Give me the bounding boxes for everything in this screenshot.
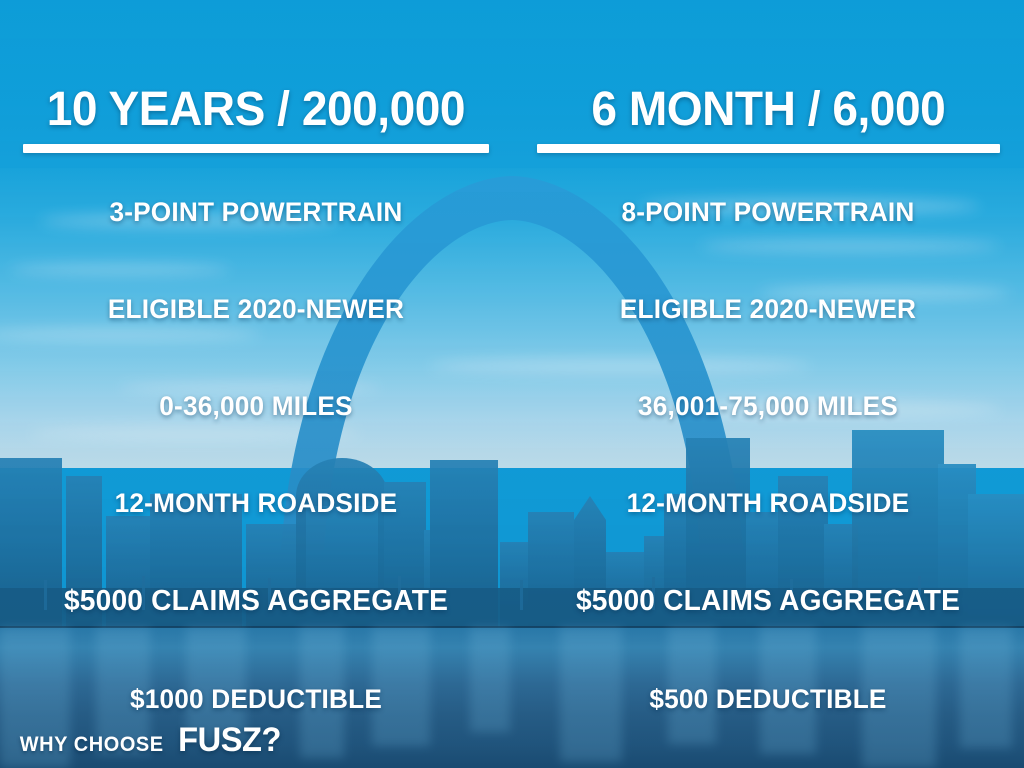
- feature-item: 36,001-75,000 MILES: [520, 391, 1017, 422]
- plans-comparison: 10 YEARS / 200,000 3-POINT POWERTRAIN EL…: [0, 0, 1024, 768]
- footer-branding: WHY CHOOSE FUSZ?: [16, 721, 284, 760]
- feature-item: 12-MONTH ROADSIDE: [520, 488, 1017, 519]
- feature-item: $1000 DEDUCTIBLE: [8, 684, 505, 715]
- feature-item: 0-36,000 MILES: [8, 391, 505, 422]
- footer-lead-text: WHY CHOOSE: [20, 733, 164, 757]
- feature-item: ELIGIBLE 2020-NEWER: [520, 294, 1017, 325]
- feature-item: 3-POINT POWERTRAIN: [8, 197, 505, 228]
- plan-features-6-month: 8-POINT POWERTRAIN ELIGIBLE 2020-NEWER 3…: [512, 153, 1024, 715]
- plan-title-underline: [537, 144, 1000, 153]
- plan-features-10-year: 3-POINT POWERTRAIN ELIGIBLE 2020-NEWER 0…: [0, 153, 512, 715]
- feature-item: ELIGIBLE 2020-NEWER: [8, 294, 505, 325]
- feature-item: $5000 CLAIMS AGGREGATE: [520, 585, 1017, 618]
- plan-column-10-year: 10 YEARS / 200,000 3-POINT POWERTRAIN EL…: [0, 0, 512, 768]
- feature-item: 8-POINT POWERTRAIN: [520, 197, 1017, 228]
- plan-column-6-month: 6 MONTH / 6,000 8-POINT POWERTRAIN ELIGI…: [512, 0, 1024, 768]
- plan-title-6-month: 6 MONTH / 6,000: [591, 82, 945, 137]
- feature-item: $5000 CLAIMS AGGREGATE: [8, 585, 505, 618]
- warranty-comparison-slide: 10 YEARS / 200,000 3-POINT POWERTRAIN EL…: [0, 0, 1024, 768]
- plan-title-10-year: 10 YEARS / 200,000: [47, 82, 465, 137]
- feature-item: $500 DEDUCTIBLE: [520, 684, 1017, 715]
- feature-item: 12-MONTH ROADSIDE: [8, 488, 505, 519]
- plan-title-underline: [23, 144, 489, 153]
- fusz-brand-logo: FUSZ?: [179, 721, 282, 760]
